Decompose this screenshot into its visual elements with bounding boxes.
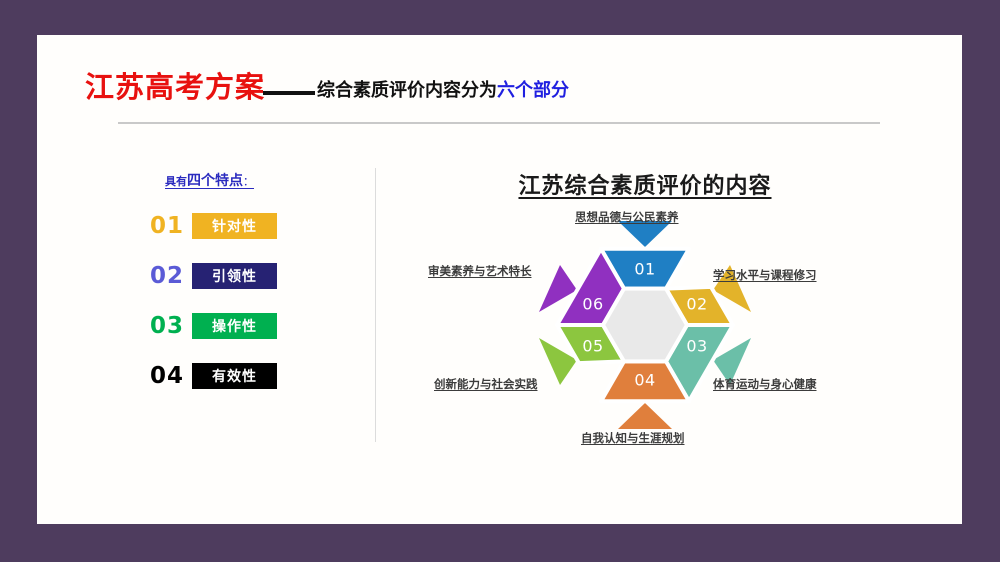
subtitle-accent: 六个部分 xyxy=(497,80,569,101)
petal-number-01: 01 xyxy=(634,260,655,279)
feature-label-pill: 操作性 xyxy=(192,313,277,339)
slide-header: 江苏高考方案 综合素质评价内容分为六个部分 xyxy=(85,42,845,102)
feature-number: 03 xyxy=(150,315,192,338)
hex-label-06: 审美素养与艺术特长 xyxy=(428,266,532,278)
features-heading-colon: ： xyxy=(243,175,254,188)
features-heading-emphasis: 四个特点 xyxy=(187,173,243,189)
title-dash-rule xyxy=(263,91,315,95)
petal-arrow-04 xyxy=(618,403,672,429)
page-subtitle: 综合素质评价内容分为六个部分 xyxy=(317,82,569,100)
feature-item-02[interactable]: 02 引领性 xyxy=(150,262,350,290)
petal-number-05: 05 xyxy=(582,337,603,356)
feature-number: 02 xyxy=(150,265,192,288)
features-panel: 具有四个特点： 01 针对性 02 引领性 03 操作性 04 有效性 xyxy=(150,170,350,390)
petal-arrow-01 xyxy=(618,221,672,247)
header-divider xyxy=(118,122,880,124)
hex-label-01: 思想品德与公民素养 xyxy=(575,212,679,224)
feature-label-pill: 有效性 xyxy=(192,363,277,389)
feature-label-pill: 引领性 xyxy=(192,263,277,289)
hex-label-03: 体育运动与身心健康 xyxy=(713,379,817,391)
petal-number-03: 03 xyxy=(686,337,707,356)
feature-label-pill: 针对性 xyxy=(192,213,277,239)
subtitle-plain: 综合素质评价内容分为 xyxy=(317,80,497,101)
hex-label-05: 创新能力与社会实践 xyxy=(434,379,538,391)
hex-label-04: 自我认知与生涯规划 xyxy=(581,433,685,445)
column-divider xyxy=(375,168,376,442)
slide-stage: 江苏高考方案 综合素质评价内容分为六个部分 具有四个特点： 01 针对性 02 … xyxy=(0,0,1000,562)
feature-number: 01 xyxy=(150,215,192,238)
diagram-title: 江苏综合素质评价的内容 xyxy=(420,168,870,200)
center-hexagon xyxy=(603,289,687,362)
petal-number-04: 04 xyxy=(634,371,655,390)
page-title-red: 江苏高考方案 xyxy=(85,73,265,102)
petal-number-02: 02 xyxy=(686,295,707,314)
feature-item-04[interactable]: 04 有效性 xyxy=(150,362,350,390)
hexagon-diagram: 01 02 03 04 xyxy=(420,200,870,460)
features-heading-prefix: 具有 xyxy=(165,175,187,188)
feature-item-01[interactable]: 01 针对性 xyxy=(150,212,350,240)
feature-number: 04 xyxy=(150,365,192,388)
petal-number-06: 06 xyxy=(582,295,603,314)
features-heading: 具有四个特点： xyxy=(165,170,350,190)
hex-label-02: 学习水平与课程修习 xyxy=(713,270,817,282)
feature-item-03[interactable]: 03 操作性 xyxy=(150,312,350,340)
